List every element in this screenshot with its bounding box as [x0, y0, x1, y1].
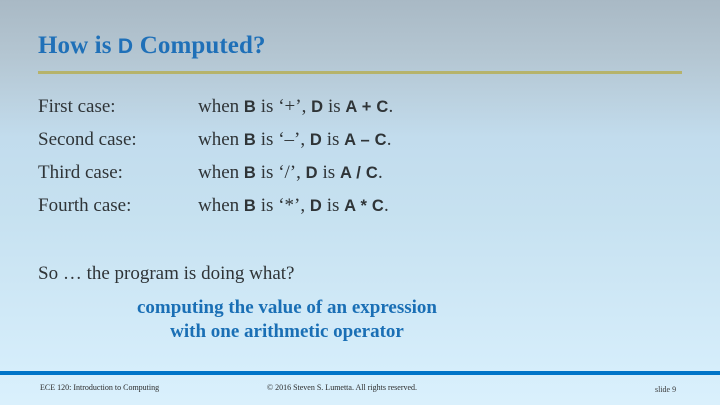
- case-variable-b: B: [244, 197, 256, 215]
- case-variable-a: A: [345, 98, 357, 116]
- case-label: Fourth case:: [38, 195, 198, 217]
- case-row: Fourth case: when B is ‘*’, D is A * C.: [38, 195, 678, 228]
- case-period: .: [387, 129, 392, 150]
- answer-line-2: with one arithmetic operator: [38, 320, 536, 344]
- case-period: .: [378, 162, 383, 183]
- answer-block: computing the value of an expression wit…: [38, 296, 536, 344]
- case-row: Third case: when B is ‘/’, D is A / C.: [38, 162, 678, 195]
- case-variable-a: A: [340, 164, 352, 182]
- case-statement: when B is ‘/’, D is A / C.: [198, 162, 678, 184]
- case-row: First case: when B is ‘+’, D is A + C.: [38, 96, 678, 129]
- case-assign-text: is: [318, 162, 340, 183]
- case-condition-text: is ‘/’,: [256, 162, 306, 183]
- case-statement: when B is ‘–’, D is A – C.: [198, 129, 678, 151]
- case-variable-c: C: [372, 197, 384, 215]
- case-condition-text: is ‘*’,: [256, 195, 310, 216]
- case-variable-d: D: [310, 131, 322, 149]
- case-variable-d: D: [306, 164, 318, 182]
- case-condition-text: is ‘–’,: [256, 129, 310, 150]
- page-title-prefix: How is: [38, 32, 118, 59]
- page-title: How is D Computed?: [38, 32, 266, 60]
- case-variable-a: A: [344, 131, 356, 149]
- case-when-text: when: [198, 162, 244, 183]
- page-title-variable-d: D: [118, 35, 133, 58]
- case-operator: –: [356, 131, 375, 149]
- case-when-text: when: [198, 96, 244, 117]
- case-operator: /: [351, 164, 365, 182]
- case-variable-d: D: [310, 197, 322, 215]
- case-condition-text: is ‘+’,: [256, 96, 311, 117]
- case-variable-c: C: [366, 164, 378, 182]
- case-when-text: when: [198, 129, 244, 150]
- footer-course: ECE 120: Introduction to Computing: [40, 383, 159, 392]
- case-row: Second case: when B is ‘–’, D is A – C.: [38, 129, 678, 162]
- footer-slide-number: slide 9: [655, 385, 676, 394]
- case-variable-b: B: [244, 164, 256, 182]
- slide: How is D Computed? First case: when B is…: [0, 0, 720, 405]
- case-operator: *: [356, 197, 372, 215]
- case-list: First case: when B is ‘+’, D is A + C. S…: [38, 96, 678, 228]
- case-variable-b: B: [244, 131, 256, 149]
- footer-divider: [0, 371, 720, 375]
- case-period: .: [388, 96, 393, 117]
- case-assign-text: is: [322, 195, 344, 216]
- case-statement: when B is ‘+’, D is A + C.: [198, 96, 678, 118]
- case-label: First case:: [38, 96, 198, 118]
- footer: ECE 120: Introduction to Computing © 201…: [0, 383, 720, 401]
- case-variable-c: C: [375, 131, 387, 149]
- case-assign-text: is: [322, 129, 344, 150]
- case-variable-b: B: [244, 98, 256, 116]
- footer-copyright: © 2016 Steven S. Lumetta. All rights res…: [267, 383, 417, 392]
- case-statement: when B is ‘*’, D is A * C.: [198, 195, 678, 217]
- page-title-suffix: Computed?: [133, 32, 265, 59]
- case-variable-d: D: [311, 98, 323, 116]
- case-operator: +: [357, 98, 376, 116]
- case-assign-text: is: [323, 96, 345, 117]
- case-label: Second case:: [38, 129, 198, 151]
- case-variable-a: A: [344, 197, 356, 215]
- answer-line-1: computing the value of an expression: [38, 296, 536, 320]
- case-period: .: [384, 195, 389, 216]
- question-text: So … the program is doing what?: [38, 263, 294, 285]
- title-divider: [38, 71, 682, 74]
- case-when-text: when: [198, 195, 244, 216]
- case-variable-c: C: [376, 98, 388, 116]
- case-label: Third case:: [38, 162, 198, 184]
